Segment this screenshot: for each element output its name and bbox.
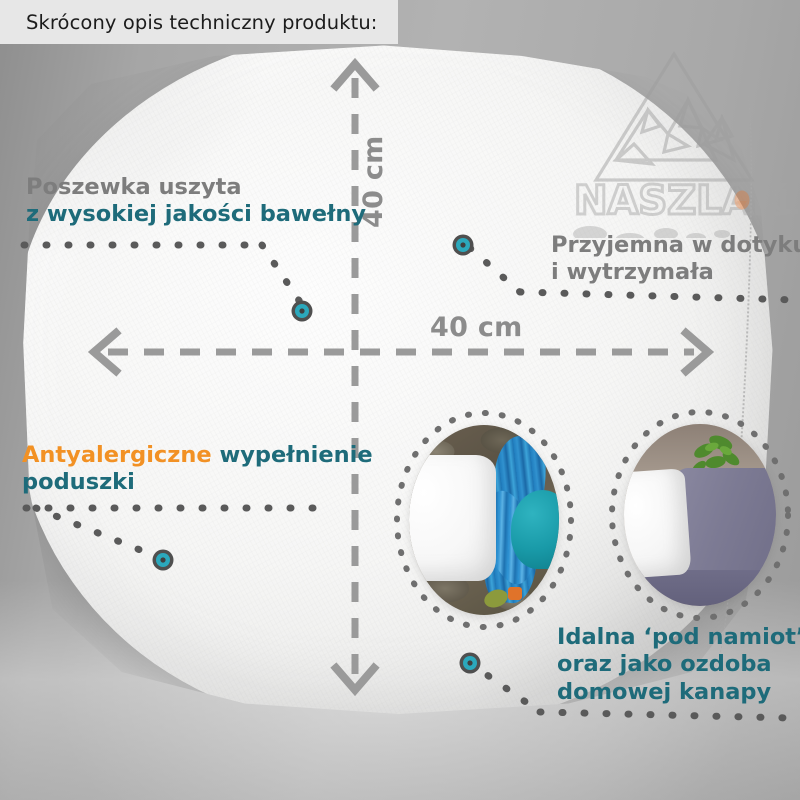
product-infographic: NASZLAK PL 40 cm 40 cm — [0, 0, 800, 800]
callout-filling-line1: Antyalergiczne wypełnienie — [22, 442, 373, 469]
callout-tent-line3: domowej kanapy — [557, 679, 800, 706]
sofa-scene — [624, 424, 776, 606]
orange-carabiner — [508, 587, 522, 600]
callout-tent: Idalna ‘pod namiot’ oraz jako ozdoba dom… — [557, 624, 800, 706]
callout-filling-word-wypelnienie: wypełnienie — [212, 442, 373, 468]
white-pillow-outdoor — [409, 455, 496, 580]
page-title: Skrócony opis techniczny produktu: — [26, 11, 377, 34]
photo-pillow-on-sofa[interactable] — [624, 424, 776, 606]
callout-cotton-line2: z wysokiej jakości bawełny — [26, 201, 366, 228]
callout-touch: Przyjemna w dotyku i wytrzymała — [551, 232, 800, 287]
callout-touch-line1: Przyjemna w dotyku — [551, 232, 800, 259]
callout-tent-line2: oraz jako ozdoba — [557, 651, 800, 678]
callout-filling-line2: poduszki — [22, 469, 373, 496]
callout-cotton-line1: Poszewka uszyta — [26, 174, 366, 201]
white-pillow-indoor — [624, 468, 691, 579]
pillow-shade-top-left — [14, 28, 274, 268]
rope-scene — [409, 425, 559, 615]
callout-filling: Antyalergiczne wypełnienie poduszki — [22, 442, 373, 497]
photo-pillow-with-climbing-gear[interactable] — [409, 425, 559, 615]
pillow-body — [14, 28, 784, 728]
header-banner: Skrócony opis techniczny produktu: — [0, 0, 398, 44]
callout-cotton: Poszewka uszyta z wysokiej jakości baweł… — [26, 174, 366, 229]
horizontal-dimension-label: 40 cm — [430, 312, 523, 343]
callout-tent-line1: Idalna ‘pod namiot’ — [557, 624, 800, 651]
callout-touch-line2: i wytrzymała — [551, 259, 800, 286]
callout-filling-word-antyalergiczne: Antyalergiczne — [22, 442, 212, 468]
